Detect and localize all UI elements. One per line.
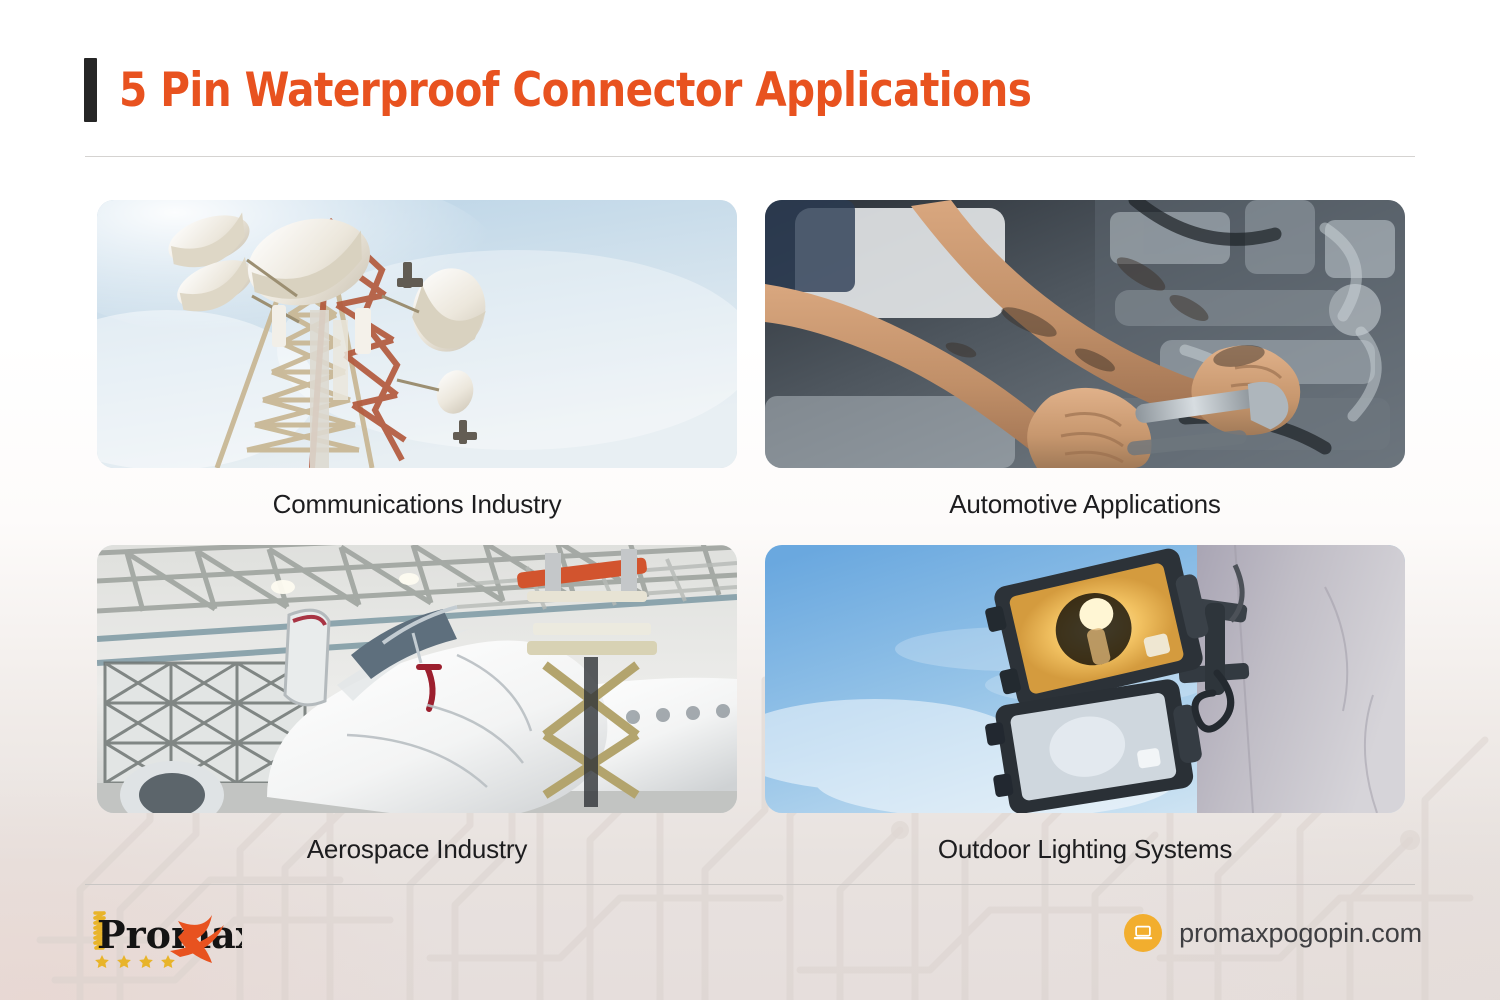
card-image-outdoor-lighting	[765, 545, 1405, 813]
card-image-aerospace	[97, 545, 737, 813]
application-cards-grid: Communications Industry	[97, 200, 1405, 879]
card-aerospace[interactable]: Aerospace Industry	[97, 545, 737, 879]
laptop-icon-badge	[1124, 914, 1162, 952]
promax-logo[interactable]: Promax	[82, 903, 242, 973]
website-link[interactable]: promaxpogopin.com	[1124, 914, 1422, 952]
card-image-automotive	[765, 200, 1405, 468]
card-caption-automotive: Automotive Applications	[765, 468, 1405, 534]
title-accent-bar	[84, 58, 97, 122]
communications-tower-illustration	[97, 200, 737, 468]
footer-divider	[85, 884, 1415, 885]
outdoor-floodlight-illustration	[765, 545, 1405, 813]
header-divider	[85, 156, 1415, 157]
card-caption-outdoor-lighting: Outdoor Lighting Systems	[765, 813, 1405, 879]
brand-name-text: Promax	[97, 912, 242, 957]
card-caption-communications: Communications Industry	[97, 468, 737, 534]
laptop-icon	[1132, 922, 1154, 944]
infographic-page: 5 Pin Waterproof Connector Applications	[0, 0, 1500, 1000]
website-url-text: promaxpogopin.com	[1179, 918, 1422, 949]
automotive-mechanic-illustration	[765, 200, 1405, 468]
card-caption-aerospace: Aerospace Industry	[97, 813, 737, 879]
card-automotive[interactable]: Automotive Applications	[765, 200, 1405, 534]
title-row: 5 Pin Waterproof Connector Applications	[84, 58, 1069, 122]
page-footer: Promax promaxpogopi	[0, 900, 1500, 980]
card-image-communications	[97, 200, 737, 468]
card-communications[interactable]: Communications Industry	[97, 200, 737, 534]
page-title: 5 Pin Waterproof Connector Applications	[119, 67, 1031, 114]
aerospace-hangar-illustration	[97, 545, 737, 813]
card-outdoor-lighting[interactable]: Outdoor Lighting Systems	[765, 545, 1405, 879]
